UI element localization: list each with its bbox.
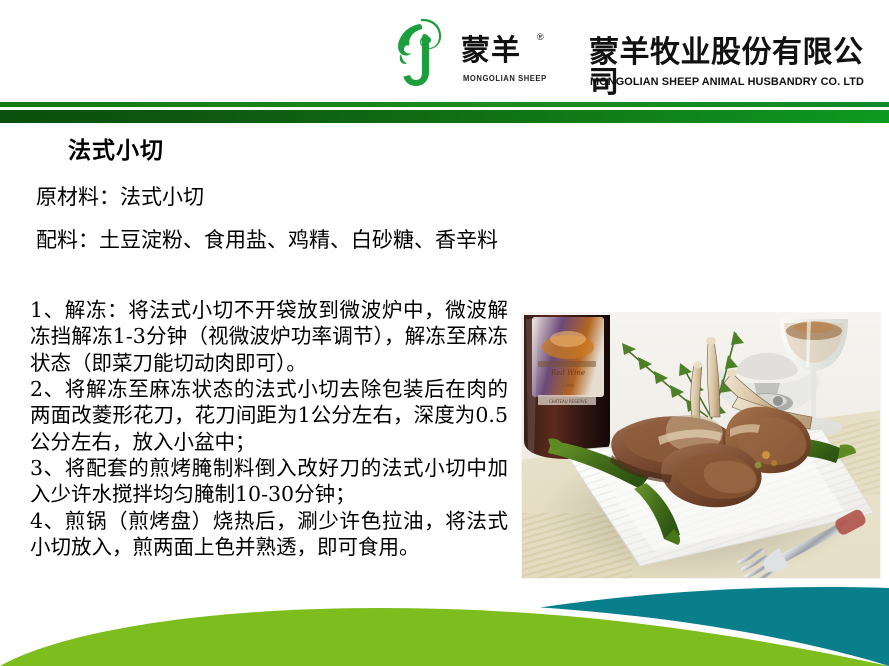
company-name-block: 蒙羊牧业股份有限公司 MONGOLIAN SHEEP ANIMAL HUSBAN… (589, 16, 881, 90)
step-item: 1、解冻：将法式小切不开袋放到微波炉中，微波解冻挡解冻1-3分钟（视微波炉功率调… (30, 297, 508, 376)
plated-rack-of-lamb-photo: Red Wine 1998 CHATEAU RESERVE (522, 313, 880, 578)
brand-lockup: 蒙羊 ® MONGOLIAN SHEEP 蒙羊牧业股份有限公司 MONGOLIA… (391, 16, 881, 90)
intro-block: 原材料：法式小切 配料：土豆淀粉、食用盐、鸡精、白砂糖、香辛料 (36, 185, 556, 271)
company-name-cn: 蒙羊牧业股份有限公司 (589, 38, 881, 98)
mongolian-sheep-ram-logo-icon (391, 16, 451, 90)
svg-text:CHATEAU RESERVE: CHATEAU RESERVE (549, 399, 588, 404)
slide-header: 蒙羊 ® MONGOLIAN SHEEP 蒙羊牧业股份有限公司 MONGOLIA… (0, 0, 889, 102)
company-name-en: MONGOLIAN SHEEP ANIMAL HUSBANDRY CO. LTD (590, 76, 864, 88)
page-title: 法式小切 (68, 131, 164, 165)
registered-trademark-icon: ® (537, 32, 544, 42)
svg-text:1998: 1998 (562, 383, 575, 389)
step-item: 4、煎锅（煎烤盘）烧热后，涮少许色拉油，将法式小切放入，煎两面上色并熟透，即可食… (30, 508, 508, 561)
presentation-slide: 蒙羊 ® MONGOLIAN SHEEP 蒙羊牧业股份有限公司 MONGOLIA… (0, 0, 889, 666)
brand-name-cn: 蒙羊 (461, 36, 521, 65)
brand-wordmark: 蒙羊 ® MONGOLIAN SHEEP (461, 16, 579, 90)
svg-text:Red Wine: Red Wine (550, 369, 585, 377)
green-arc (0, 608, 889, 666)
step-item: 3、将配套的煎烤腌制料倒入改好刀的法式小切中加入少许水搅拌均匀腌制10-30分钟… (30, 455, 508, 508)
header-thick-rule (0, 110, 889, 123)
brand-name-en: MONGOLIAN SHEEP (463, 74, 547, 83)
preparation-steps: 1、解冻：将法式小切不开袋放到微波炉中，微波解冻挡解冻1-3分钟（视微波炉功率调… (30, 297, 508, 560)
seasoning-line: 配料：土豆淀粉、食用盐、鸡精、白砂糖、香辛料 (36, 228, 556, 253)
ingredient-line: 原材料：法式小切 (36, 185, 556, 210)
step-item: 2、将解冻至麻冻状态的法式小切去除包装后在肉的两面改菱形花刀，花刀间距为1公分左… (30, 376, 508, 455)
teal-arc (250, 587, 889, 666)
